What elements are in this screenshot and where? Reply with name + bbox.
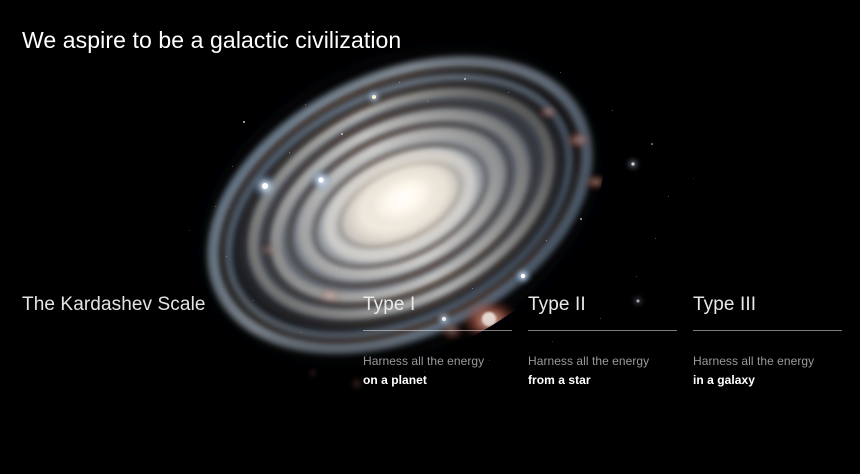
- column-desc-line2-type-2: from a star: [528, 371, 677, 390]
- column-description-type-1: Harness all the energy on a planet: [363, 352, 512, 390]
- column-title-type-1: Type I: [363, 292, 512, 318]
- kardashev-columns: Type I Harness all the energy on a plane…: [363, 292, 839, 390]
- column-description-type-2: Harness all the energy from a star: [528, 352, 677, 390]
- column-description-type-3: Harness all the energy in a galaxy: [693, 352, 842, 390]
- kardashev-column-type-2: Type II Harness all the energy from a st…: [528, 292, 677, 390]
- column-desc-line1-type-3: Harness all the energy: [693, 352, 842, 371]
- column-desc-line2-type-1: on a planet: [363, 371, 512, 390]
- kardashev-column-type-1: Type I Harness all the energy on a plane…: [363, 292, 512, 390]
- kardashev-column-type-3: Type III Harness all the energy in a gal…: [693, 292, 842, 390]
- column-desc-line1-type-2: Harness all the energy: [528, 352, 677, 371]
- column-divider-type-2: [528, 330, 677, 331]
- kardashev-scale-label: The Kardashev Scale: [22, 294, 206, 316]
- column-desc-line2-type-3: in a galaxy: [693, 371, 842, 390]
- column-divider-type-1: [363, 330, 512, 331]
- column-desc-line1-type-1: Harness all the energy: [363, 352, 512, 371]
- slide-root: We aspire to be a galactic civilization …: [0, 0, 860, 474]
- page-title: We aspire to be a galactic civilization: [22, 27, 401, 54]
- column-title-type-3: Type III: [693, 292, 842, 318]
- column-divider-type-3: [693, 330, 842, 331]
- slide-content: We aspire to be a galactic civilization …: [0, 0, 860, 474]
- column-title-type-2: Type II: [528, 292, 677, 318]
